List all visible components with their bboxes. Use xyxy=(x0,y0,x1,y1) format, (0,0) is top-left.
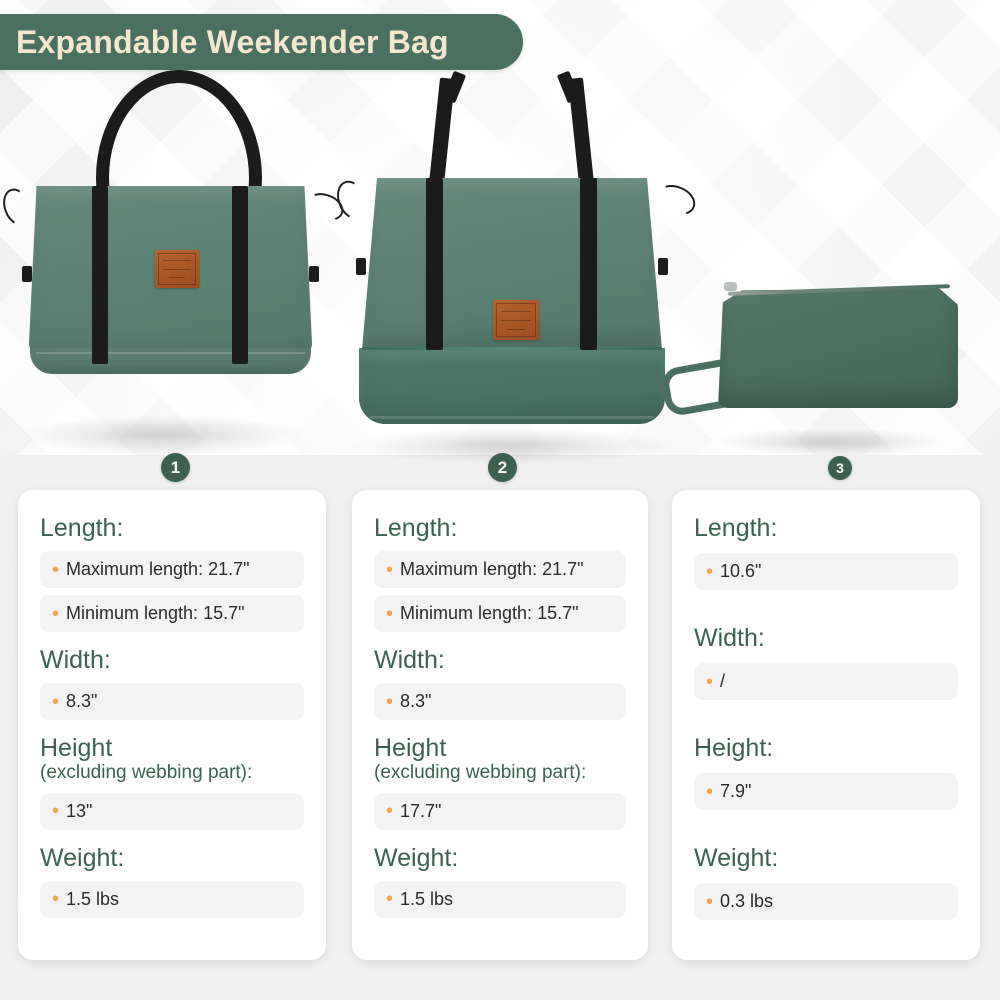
spec-label-width: Width: xyxy=(694,624,958,652)
spec-value-height: • 13" xyxy=(40,793,304,830)
spec-label-height-sub: (excluding webbing part): xyxy=(40,762,304,784)
spec-value-weight: • 1.5 lbs xyxy=(40,881,304,918)
spec-card-2: Length: • Maximum length: 21.7" • Minimu… xyxy=(352,490,648,960)
spec-value-text: Maximum length: 21.7" xyxy=(66,559,249,580)
spec-group-weight: Weight: • 0.3 lbs xyxy=(694,844,958,920)
spec-value-text: / xyxy=(720,671,725,692)
bullet-icon: • xyxy=(52,692,59,712)
spec-value-text: 0.3 lbs xyxy=(720,891,773,912)
page-title: Expandable Weekender Bag xyxy=(16,24,449,61)
spec-group-weight: Weight: • 1.5 lbs xyxy=(40,844,304,918)
bullet-icon: • xyxy=(386,889,393,909)
bullet-icon: • xyxy=(386,801,393,821)
spec-value-text: 13" xyxy=(66,801,92,822)
spec-group-length: Length: • Maximum length: 21.7" • Minimu… xyxy=(40,514,304,632)
spec-group-width: Width: • 8.3" xyxy=(374,646,626,720)
bullet-icon: • xyxy=(386,604,393,624)
spec-label-width: Width: xyxy=(374,646,626,674)
spec-group-width: Width: • / xyxy=(694,624,958,700)
product-badge-1: 1 xyxy=(161,453,190,482)
spec-value-min-length: • Minimum length: 15.7" xyxy=(374,595,626,632)
spec-value-weight: • 1.5 lbs xyxy=(374,881,626,918)
spec-group-height: Height: • 7.9" xyxy=(694,734,958,810)
spec-group-weight: Weight: • 1.5 lbs xyxy=(374,844,626,918)
product-badge-3: 3 xyxy=(828,456,852,480)
spec-label-height-main: Height xyxy=(40,734,112,762)
spec-label-weight: Weight: xyxy=(374,844,626,872)
product-badge-3-label: 3 xyxy=(836,460,844,476)
spec-value-text: 7.9" xyxy=(720,781,751,802)
spec-label-height: Height (excluding webbing part): xyxy=(374,734,626,784)
spec-label-weight: Weight: xyxy=(694,844,958,872)
spec-card-row: Length: • Maximum length: 21.7" • Minimu… xyxy=(0,0,1000,1000)
spec-value-width: • 8.3" xyxy=(40,683,304,720)
bullet-icon: • xyxy=(706,672,713,692)
spec-value-min-length: • Minimum length: 15.7" xyxy=(40,595,304,632)
spec-value-weight: • 0.3 lbs xyxy=(694,883,958,920)
spec-label-height: Height: xyxy=(694,734,958,762)
spec-label-width: Width: xyxy=(40,646,304,674)
bullet-icon: • xyxy=(386,692,393,712)
spec-value-width: • 8.3" xyxy=(374,683,626,720)
spec-value-max-length: • Maximum length: 21.7" xyxy=(40,551,304,588)
spec-group-length: Length: • 10.6" xyxy=(694,514,958,590)
product-badge-2: 2 xyxy=(488,453,517,482)
spec-label-height: Height (excluding webbing part): xyxy=(40,734,304,784)
spec-value-text: Minimum length: 15.7" xyxy=(66,603,244,624)
spec-value-text: Maximum length: 21.7" xyxy=(400,559,583,580)
spec-label-weight: Weight: xyxy=(40,844,304,872)
spec-group-height: Height (excluding webbing part): • 13" xyxy=(40,734,304,830)
bullet-icon: • xyxy=(52,889,59,909)
spec-label-height-sub: (excluding webbing part): xyxy=(374,762,626,784)
spec-label-length: Length: xyxy=(694,514,958,542)
product-badge-2-label: 2 xyxy=(498,458,507,478)
spec-value-text: 17.7" xyxy=(400,801,441,822)
spec-group-width: Width: • 8.3" xyxy=(40,646,304,720)
spec-card-1: Length: • Maximum length: 21.7" • Minimu… xyxy=(18,490,326,960)
spec-label-height-main: Height xyxy=(374,734,446,762)
spec-value-width: • / xyxy=(694,663,958,700)
spec-label-length: Length: xyxy=(374,514,626,542)
spec-group-length: Length: • Maximum length: 21.7" • Minimu… xyxy=(374,514,626,632)
spec-value-text: 1.5 lbs xyxy=(66,889,119,910)
spec-value-max-length: • Maximum length: 21.7" xyxy=(374,551,626,588)
spec-value-text: 1.5 lbs xyxy=(400,889,453,910)
spec-value-length: • 10.6" xyxy=(694,553,958,590)
bullet-icon: • xyxy=(706,562,713,582)
spec-group-height: Height (excluding webbing part): • 17.7" xyxy=(374,734,626,830)
spec-value-text: 10.6" xyxy=(720,561,761,582)
bullet-icon: • xyxy=(386,560,393,580)
spec-value-height: • 17.7" xyxy=(374,793,626,830)
spec-value-text: Minimum length: 15.7" xyxy=(400,603,578,624)
bullet-icon: • xyxy=(52,801,59,821)
bullet-icon: • xyxy=(52,560,59,580)
bullet-icon: • xyxy=(52,604,59,624)
spec-value-text: 8.3" xyxy=(66,691,97,712)
product-badge-1-label: 1 xyxy=(171,458,180,478)
bullet-icon: • xyxy=(706,892,713,912)
spec-card-3: Length: • 10.6" Width: • / Height: • 7.9… xyxy=(672,490,980,960)
spec-value-height: • 7.9" xyxy=(694,773,958,810)
spec-value-text: 8.3" xyxy=(400,691,431,712)
infographic-stage: Expandable Weekender Bag xyxy=(0,0,1000,1000)
title-banner: Expandable Weekender Bag xyxy=(0,14,523,70)
bullet-icon: • xyxy=(706,782,713,802)
spec-label-length: Length: xyxy=(40,514,304,542)
